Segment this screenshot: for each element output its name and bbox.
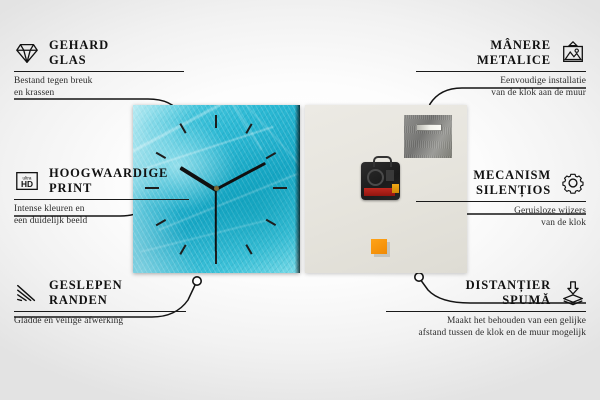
- mechanism-dial: [367, 169, 384, 186]
- callout-desc: Eenvoudige installatie van de klok aan d…: [416, 75, 586, 100]
- mechanism-hook: [373, 156, 392, 167]
- clock-tick: [245, 244, 252, 254]
- clock-minute-hand: [215, 162, 266, 191]
- callout-title: MÂNERE METALICE: [477, 38, 551, 68]
- battery-terminal: [392, 184, 399, 193]
- picture-frame-icon: [560, 40, 586, 66]
- callout-rule: [386, 311, 586, 312]
- callout-rule: [14, 71, 184, 72]
- bevel-lines-icon: [14, 280, 40, 306]
- mechanism-chip: [386, 170, 394, 181]
- callout-rule: [416, 201, 586, 202]
- foam-spacer: [371, 239, 387, 254]
- callout-desc: Intense kleuren en een duidelijk beeld: [14, 203, 189, 228]
- svg-text:HD: HD: [21, 179, 33, 189]
- callout-rule: [416, 71, 586, 72]
- clock-tick: [179, 244, 186, 254]
- clock-tick: [215, 115, 217, 128]
- clock-center-cap: [214, 186, 219, 191]
- callout-desc: Geruisloze wijzers van de klok: [416, 205, 586, 230]
- infographic-stage: GEHARD GLAS Bestand tegen breuk en krass…: [0, 0, 600, 400]
- clock-tick: [266, 152, 276, 159]
- clock-tick: [266, 219, 276, 226]
- callout-rule: [14, 311, 186, 312]
- quartz-mechanism: [361, 162, 400, 200]
- spacer-press-icon: [560, 280, 586, 306]
- callout-title: GEHARD GLAS: [49, 38, 109, 68]
- ultra-hd-icon: ultra HD: [14, 168, 40, 194]
- callout-gehard-glas: GEHARD GLAS Bestand tegen breuk en krass…: [14, 38, 184, 99]
- callout-manere-metalice: MÂNERE METALICE Eenvoudige installatie v…: [416, 38, 586, 99]
- battery: [364, 188, 395, 196]
- clock-second-hand: [215, 190, 217, 252]
- callout-distantier-spuma: DISTANȚIER SPUMĂ Maakt het behouden van …: [386, 278, 586, 339]
- callout-desc: Bestand tegen breuk en krassen: [14, 75, 184, 100]
- callout-title: GESLEPEN RANDEN: [49, 278, 123, 308]
- clock-tick: [215, 251, 217, 264]
- clock-tick: [156, 152, 166, 159]
- callout-rule: [14, 199, 189, 200]
- hanger-slot: [416, 124, 442, 131]
- callout-geslepen-randen: GESLEPEN RANDEN Gladde en veilige afwerk…: [14, 278, 186, 327]
- callout-mecanism-silentios: MECANISM SILENȚIOS Geruisloze wijzers va…: [416, 168, 586, 229]
- callout-hoogwaardige-print: ultra HD HOOGWAARDIGE PRINT Intense kleu…: [14, 166, 189, 227]
- clock-tick: [273, 187, 287, 189]
- callout-title: MECANISM SILENȚIOS: [473, 168, 551, 198]
- metal-hanger-plate: [404, 115, 452, 158]
- diamond-icon: [14, 40, 40, 66]
- callout-desc: Maakt het behouden van een gelijke afsta…: [386, 315, 586, 340]
- callout-desc: Gladde en veilige afwerking: [14, 315, 186, 327]
- callout-title: DISTANȚIER SPUMĂ: [466, 278, 551, 308]
- callout-title: HOOGWAARDIGE PRINT: [49, 166, 168, 196]
- gear-icon: [560, 170, 586, 196]
- connector-dot-randen: [193, 277, 201, 285]
